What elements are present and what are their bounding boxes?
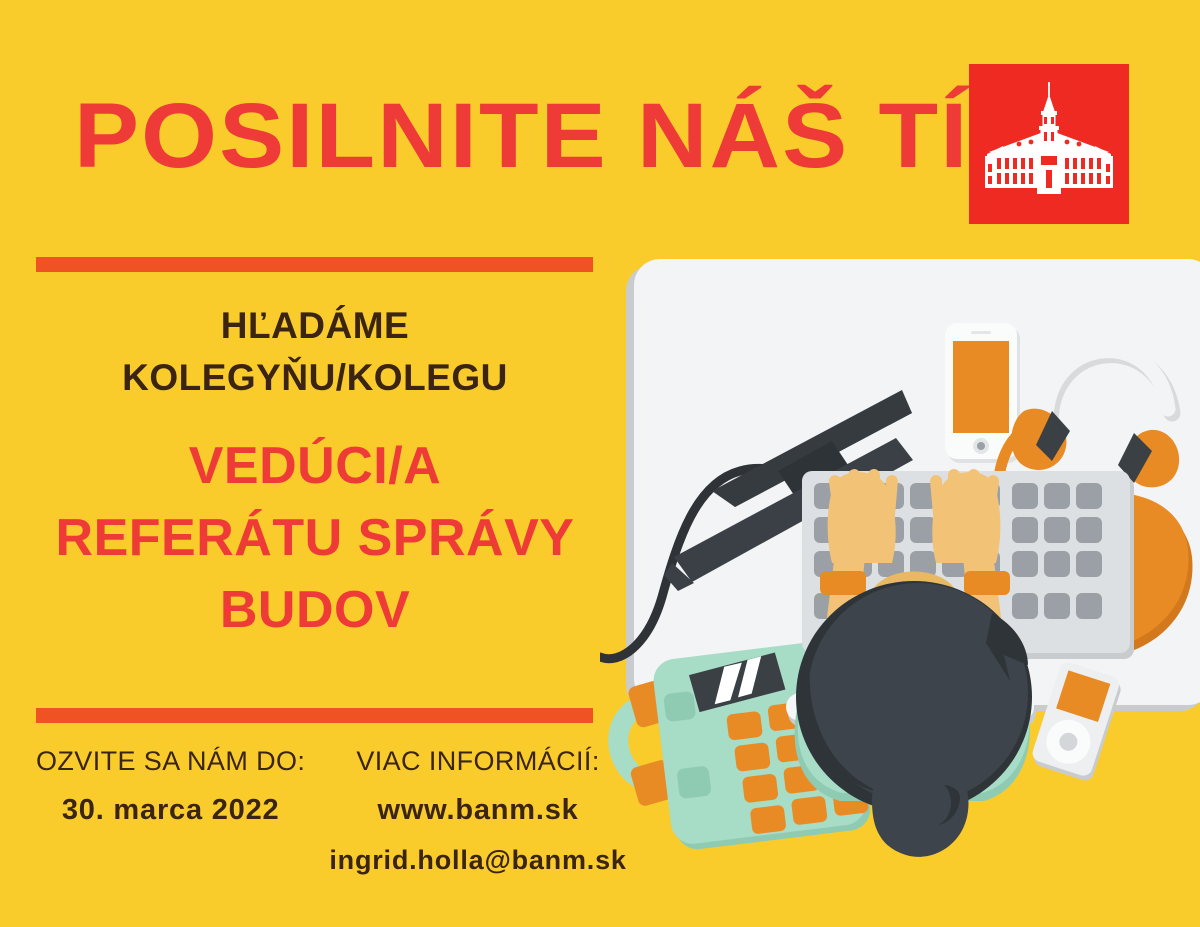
deadline-block: OZVITE SA NÁM DO: 30. marca 2022 (36, 742, 305, 880)
recruitment-poster: POSILNITE NÁŠ TÍM! (0, 0, 1200, 927)
more-info-label: VIAC INFORMÁCIÍ: (329, 742, 626, 780)
looking-line-2: KOLEGYŇU/KOLEGU (30, 352, 600, 404)
page-title: POSILNITE NÁŠ TÍM! (74, 88, 986, 184)
position-line-2: REFERÁTU SPRÁVY (30, 502, 600, 574)
divider-top (36, 257, 593, 272)
town-hall-building-icon (969, 64, 1129, 224)
deadline-label: OZVITE SA NÁM DO: (36, 742, 305, 780)
left-cuff (820, 571, 866, 595)
divider-bottom (36, 708, 593, 723)
workspace-scene (600, 245, 1200, 927)
looking-line-1: HĽADÁME (30, 300, 600, 352)
town-hall-logo (969, 64, 1129, 224)
website-link[interactable]: www.banm.sk (329, 790, 626, 830)
email-link[interactable]: ingrid.holla@banm.sk (329, 840, 626, 880)
contact-footer: OZVITE SA NÁM DO: 30. marca 2022 VIAC IN… (36, 742, 616, 880)
position-line-3: BUDOV (30, 574, 600, 646)
right-cuff (964, 571, 1010, 595)
workspace-illustration (600, 245, 1200, 927)
position-line-1: VEDÚCI/A (30, 430, 600, 502)
job-copy-block: HĽADÁME KOLEGYŇU/KOLEGU VEDÚCI/A REFERÁT… (30, 300, 600, 646)
deadline-value: 30. marca 2022 (36, 790, 305, 830)
more-info-block: VIAC INFORMÁCIÍ: www.banm.sk ingrid.holl… (329, 742, 626, 880)
